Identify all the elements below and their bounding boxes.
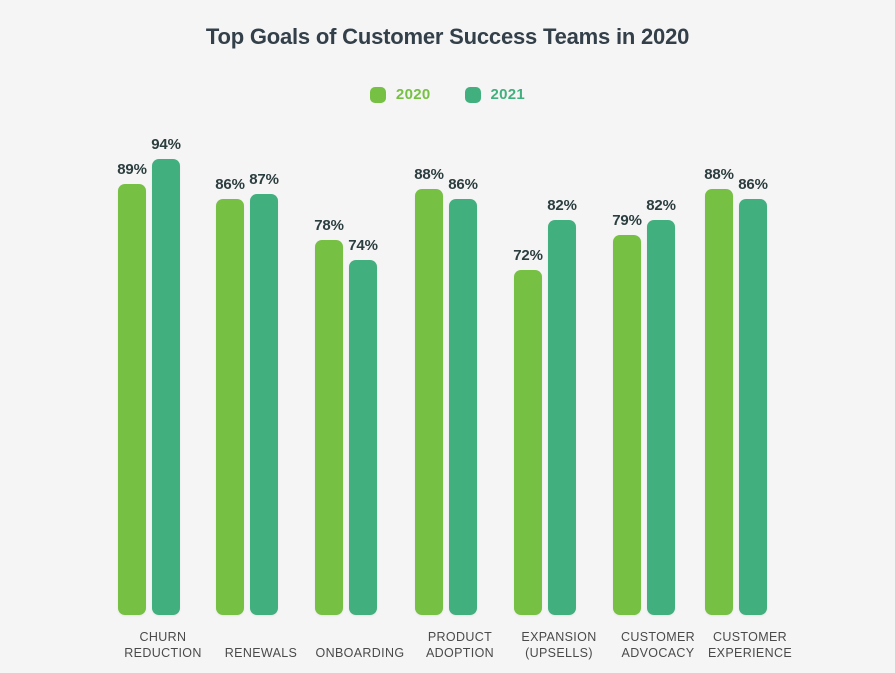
bar-rect[interactable]	[349, 260, 377, 615]
plot-area: 89%94%CHURN REDUCTION86%87%RENEWALS78%74…	[0, 0, 895, 673]
bar-rect[interactable]	[250, 194, 278, 615]
bar-2021[interactable]: 74%	[349, 237, 377, 615]
bar-group: 88%86%PRODUCT ADOPTION	[415, 0, 505, 673]
bar-value-label: 78%	[314, 217, 343, 234]
bar-2020[interactable]: 89%	[118, 161, 146, 615]
bar-rect[interactable]	[415, 189, 443, 615]
bar-2020[interactable]: 78%	[315, 217, 343, 615]
bar-group-bars: 88%86%	[705, 166, 767, 615]
bar-value-label: 82%	[547, 197, 576, 214]
bar-rect[interactable]	[216, 199, 244, 615]
bar-group-bars: 78%74%	[315, 217, 377, 615]
bar-2020[interactable]: 72%	[514, 247, 542, 615]
bar-2020[interactable]: 86%	[216, 176, 244, 615]
bar-rect[interactable]	[647, 220, 675, 616]
category-axis-label: EXPANSION (UPSELLS)	[514, 629, 604, 661]
bar-value-label: 94%	[151, 136, 180, 153]
bar-2021[interactable]: 82%	[548, 197, 576, 616]
category-axis-label: CUSTOMER EXPERIENCE	[705, 629, 795, 661]
bar-rect[interactable]	[152, 159, 180, 615]
bar-value-label: 86%	[738, 176, 767, 193]
bar-value-label: 88%	[704, 166, 733, 183]
bar-value-label: 72%	[513, 247, 542, 264]
bar-group-bars: 72%82%	[514, 197, 576, 616]
bar-value-label: 86%	[448, 176, 477, 193]
bar-rect[interactable]	[613, 235, 641, 615]
bar-2021[interactable]: 86%	[449, 176, 477, 615]
category-axis-label: PRODUCT ADOPTION	[415, 629, 505, 661]
bar-group: 89%94%CHURN REDUCTION	[118, 0, 208, 673]
bar-group: 78%74%ONBOARDING	[315, 0, 405, 673]
category-axis-label: CUSTOMER ADVOCACY	[613, 629, 703, 661]
bar-group-bars: 79%82%	[613, 197, 675, 616]
bar-rect[interactable]	[118, 184, 146, 615]
category-axis-label: RENEWALS	[216, 645, 306, 661]
bar-2021[interactable]: 87%	[250, 171, 278, 615]
bar-rect[interactable]	[705, 189, 733, 615]
bar-group: 79%82%CUSTOMER ADVOCACY	[613, 0, 703, 673]
bar-rect[interactable]	[315, 240, 343, 615]
bar-rect[interactable]	[514, 270, 542, 615]
bar-value-label: 88%	[414, 166, 443, 183]
bar-2020[interactable]: 88%	[705, 166, 733, 615]
bar-group: 72%82%EXPANSION (UPSELLS)	[514, 0, 604, 673]
bar-value-label: 86%	[215, 176, 244, 193]
bar-value-label: 82%	[646, 197, 675, 214]
bar-rect[interactable]	[449, 199, 477, 615]
bar-value-label: 87%	[249, 171, 278, 188]
bar-group: 86%87%RENEWALS	[216, 0, 306, 673]
bar-value-label: 89%	[117, 161, 146, 178]
bar-group-bars: 88%86%	[415, 166, 477, 615]
bar-2021[interactable]: 82%	[647, 197, 675, 616]
bar-group-bars: 89%94%	[118, 136, 180, 615]
bar-2020[interactable]: 88%	[415, 166, 443, 615]
chart-container: Top Goals of Customer Success Teams in 2…	[0, 0, 895, 673]
bar-value-label: 79%	[612, 212, 641, 229]
bar-2021[interactable]: 86%	[739, 176, 767, 615]
bar-2020[interactable]: 79%	[613, 212, 641, 615]
bar-group: 88%86%CUSTOMER EXPERIENCE	[705, 0, 795, 673]
category-axis-label: ONBOARDING	[315, 645, 405, 661]
bar-value-label: 74%	[348, 237, 377, 254]
bar-2021[interactable]: 94%	[152, 136, 180, 615]
bar-group-bars: 86%87%	[216, 171, 278, 615]
category-axis-label: CHURN REDUCTION	[118, 629, 208, 661]
bar-rect[interactable]	[739, 199, 767, 615]
bar-rect[interactable]	[548, 220, 576, 616]
